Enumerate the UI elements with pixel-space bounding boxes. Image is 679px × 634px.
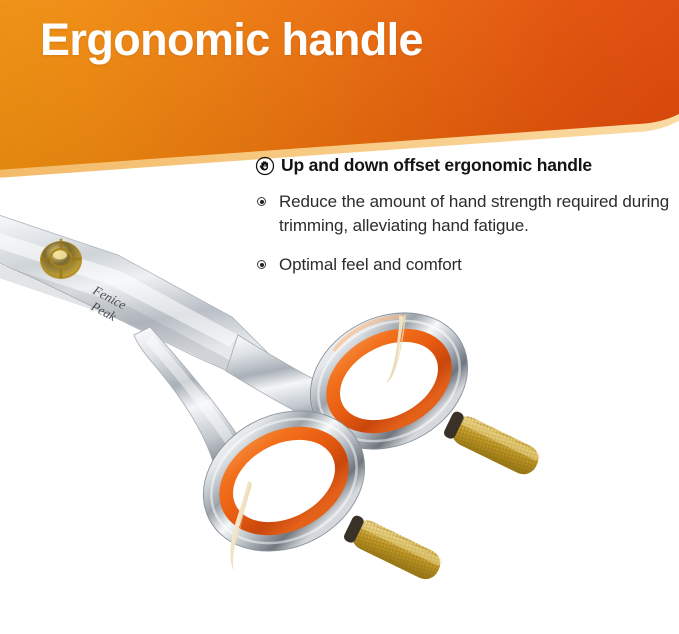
feature-heading-text: Up and down offset ergonomic handle (281, 155, 592, 176)
feature-heading-row: Up and down offset ergonomic handle (255, 155, 675, 176)
hand-palm-down-icon (255, 156, 275, 176)
knurled-tang-upper (442, 409, 543, 479)
product-photo: Fenice Peak (0, 185, 600, 634)
blade (0, 197, 268, 381)
page-title: Ergonomic handle (40, 16, 423, 63)
product-feature-card: Ergonomic handle Up and down offset ergo… (0, 0, 679, 634)
knurled-tang-lower (342, 513, 445, 584)
